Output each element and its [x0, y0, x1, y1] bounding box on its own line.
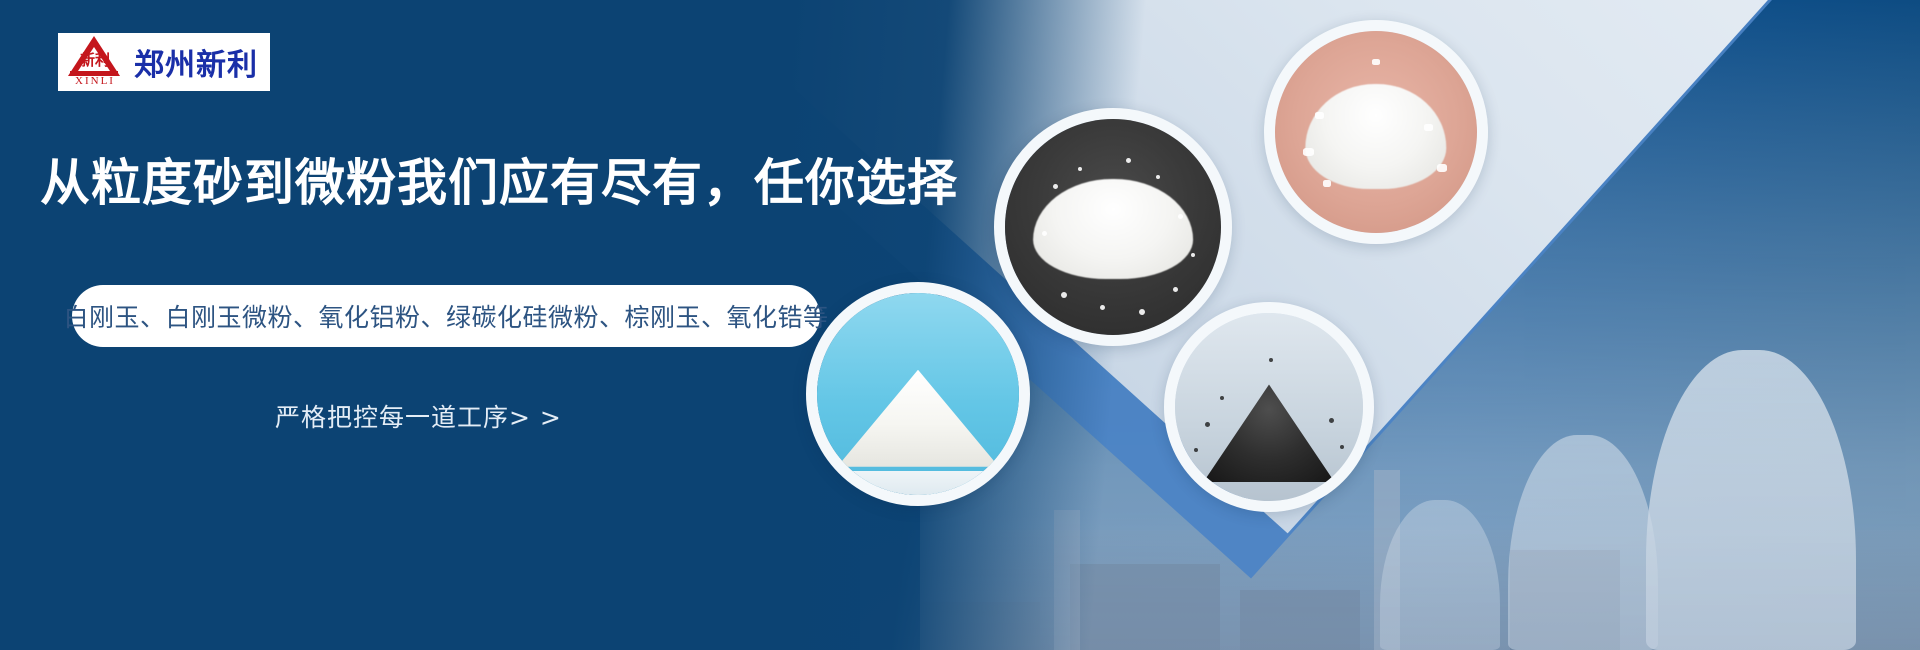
grit-speck	[1061, 292, 1067, 298]
powder-chunk	[1315, 112, 1324, 119]
grit-speck	[1139, 309, 1145, 315]
powder-chunk	[1323, 180, 1331, 187]
hero-banner: 新利 XINLI 郑州新利 从粒度砂到微粉我们应有尽有，任你选择 白刚玉、白刚玉…	[0, 0, 1920, 650]
product-circle-black-silicon-carbide-grit	[1164, 302, 1374, 512]
grit-speck	[1100, 305, 1105, 310]
product-list-text: 白刚玉、白刚玉微粉、氧化铝粉、绿碳化硅微粉、棕刚玉、氧化锆等	[64, 298, 829, 334]
product-circle-alumina-powder-pile	[806, 282, 1030, 506]
grit-speck	[1126, 158, 1131, 163]
powder-chunk	[1437, 164, 1447, 172]
cta-link[interactable]: 严格把控每一道工序> >	[275, 398, 562, 434]
product-list-pill: 白刚玉、白刚玉微粉、氧化铝粉、绿碳化硅微粉、棕刚玉、氧化锆等	[72, 285, 820, 347]
grit-speck	[1053, 184, 1058, 189]
powder-chunk	[1372, 59, 1380, 65]
grit-speck	[1191, 253, 1195, 257]
logo-triangle-icon: 新利 XINLI	[64, 35, 126, 89]
product-circle-white-fused-alumina-grit	[994, 108, 1232, 346]
grit-speck	[1220, 396, 1224, 400]
powder-chunk	[1424, 124, 1433, 131]
logo-mark-characters: 新利	[69, 51, 121, 69]
powder-base	[817, 471, 1019, 495]
powder-chunk	[1303, 148, 1314, 156]
hero-headline: 从粒度砂到微粉我们应有尽有，任你选择	[40, 143, 958, 215]
company-logo[interactable]: 新利 XINLI 郑州新利	[58, 33, 270, 91]
logo-wordmark: 郑州新利	[134, 40, 258, 84]
product-circle-white-alumina-micropowder	[1264, 20, 1488, 244]
grit-speck	[1178, 214, 1183, 219]
logo-mark-latin: XINLI	[64, 75, 126, 87]
